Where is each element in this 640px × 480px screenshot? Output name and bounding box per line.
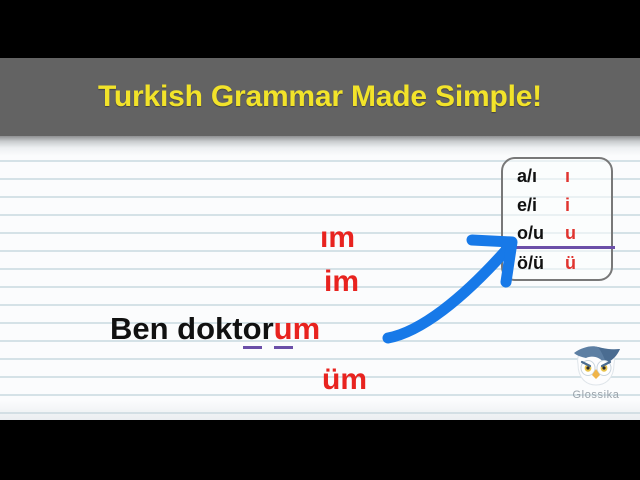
owl-icon bbox=[568, 344, 624, 388]
suffix-option-im: im bbox=[324, 265, 359, 299]
sentence-part-1-underlined-o: o bbox=[243, 311, 262, 349]
vowel-row-value: i bbox=[565, 195, 570, 216]
vowel-row-value: ü bbox=[565, 253, 576, 274]
logo-wordmark: Glossika bbox=[558, 389, 634, 401]
letterbox-bottom bbox=[0, 420, 640, 480]
sentence-part-3-underlined-u: u bbox=[274, 311, 293, 349]
blue-arrow-icon bbox=[380, 230, 530, 350]
suffix-option-im-dotless: ım bbox=[320, 221, 355, 255]
vowel-row-key: a/ı bbox=[503, 166, 565, 187]
banner-fade bbox=[0, 136, 640, 148]
sentence-part-2: r bbox=[262, 311, 274, 346]
vowel-row-a-i: a/ı ı bbox=[503, 162, 615, 191]
video-frame: ım im üm Ben doktorum a/ı ı e/i i o/u u … bbox=[0, 0, 640, 480]
suffix-option-uem: üm bbox=[322, 363, 367, 397]
letterbox-top bbox=[0, 0, 640, 58]
vowel-row-key: e/i bbox=[503, 195, 565, 216]
example-sentence: Ben doktorum bbox=[110, 311, 320, 347]
sentence-part-0: Ben dokt bbox=[110, 311, 243, 346]
page-title: Turkish Grammar Made Simple! bbox=[98, 80, 542, 114]
sentence-part-4: m bbox=[293, 311, 321, 346]
vowel-row-value: u bbox=[565, 223, 576, 244]
vowel-row-value: ı bbox=[565, 166, 570, 187]
vowel-row-e-i: e/i i bbox=[503, 191, 615, 220]
glossika-logo: Glossika bbox=[558, 344, 634, 408]
title-banner: Turkish Grammar Made Simple! bbox=[0, 58, 640, 136]
